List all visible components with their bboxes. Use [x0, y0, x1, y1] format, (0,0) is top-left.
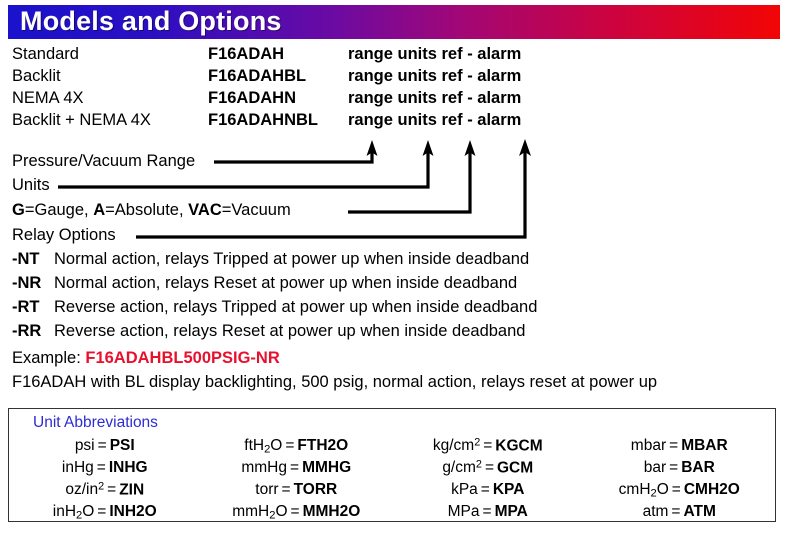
- unit-code: KPA: [493, 481, 525, 498]
- unit-name: atm: [643, 503, 669, 520]
- unit-code: PSI: [110, 437, 135, 454]
- unit-name: inH2O: [53, 503, 95, 520]
- unit-equals: =: [282, 437, 297, 454]
- unit-equals: =: [480, 437, 495, 454]
- unit-name: torr: [255, 481, 278, 498]
- model-code: F16ADAHNBL: [208, 111, 318, 130]
- model-code: F16ADAHN: [208, 89, 296, 108]
- unit-equals: =: [104, 481, 119, 498]
- unit-abbreviation-item: MPa=MPA: [392, 501, 584, 523]
- unit-abbreviation-item: bar=BAR: [584, 457, 776, 479]
- example-part-number: F16ADAHBL500PSIG-NR: [85, 349, 279, 367]
- unit-code: ATM: [683, 503, 715, 520]
- unit-equals: =: [95, 437, 110, 454]
- leader-line-range: [214, 147, 372, 162]
- unit-abbreviation-item: cmH2O=CMH2O: [584, 479, 776, 501]
- unit-name: psi: [75, 437, 95, 454]
- header-banner: Models and Options: [8, 5, 780, 39]
- unit-equals: =: [94, 503, 109, 520]
- unit-equals: =: [668, 503, 683, 520]
- unit-name: MPa: [448, 503, 480, 520]
- unit-abbreviation-item: atm=ATM: [584, 501, 776, 523]
- unit-code: FTH2O: [297, 437, 348, 454]
- models-table: StandardF16ADAHrange units ref - alarmBa…: [12, 45, 612, 133]
- model-suffix: range units ref - alarm: [348, 45, 521, 64]
- unit-code: ZIN: [119, 481, 144, 498]
- unit-abbreviation-item: mbar=MBAR: [584, 435, 776, 457]
- unit-code: GCM: [497, 459, 533, 476]
- relay-option-text: Normal action, relays Tripped at power u…: [54, 250, 529, 269]
- model-row: StandardF16ADAHrange units ref - alarm: [12, 45, 612, 67]
- model-row: BacklitF16ADAHBLrange units ref - alarm: [12, 67, 612, 89]
- unit-code: TORR: [294, 481, 338, 498]
- unit-abbreviation-item: kg/cm2=KGCM: [392, 435, 584, 457]
- unit-name: mmH2O: [232, 503, 287, 520]
- model-suffix: range units ref - alarm: [348, 111, 521, 130]
- unit-abbreviation-item: g/cm2=GCM: [392, 457, 584, 479]
- callout-label-pressure-vacuum-range: Pressure/Vacuum Range: [12, 152, 200, 171]
- unit-code: INH2O: [109, 503, 156, 520]
- model-code: F16ADAH: [208, 45, 284, 64]
- example-line: Example: F16ADAHBL500PSIG-NR: [12, 349, 280, 368]
- unit-name: oz/in2: [65, 481, 104, 498]
- unit-equals: =: [666, 459, 681, 476]
- unit-code: MMHG: [302, 459, 351, 476]
- relay-option-text: Reverse action, relays Tripped at power …: [54, 298, 537, 317]
- unit-name: bar: [644, 459, 666, 476]
- unit-abbreviation-item: oz/in2=ZIN: [9, 479, 201, 501]
- unit-name: g/cm2: [442, 459, 482, 476]
- unit-code: MPA: [495, 503, 528, 520]
- unit-name: mbar: [631, 437, 666, 454]
- relay-option-row: -RTReverse action, relays Tripped at pow…: [12, 298, 732, 322]
- model-description: NEMA 4X: [12, 89, 84, 108]
- model-description: Backlit: [12, 67, 61, 86]
- relay-option-row: -RRReverse action, relays Reset at power…: [12, 322, 732, 346]
- unit-equals: =: [669, 481, 684, 498]
- model-row: NEMA 4XF16ADAHNrange units ref - alarm: [12, 89, 612, 111]
- unit-equals: =: [94, 459, 109, 476]
- model-suffix: range units ref - alarm: [348, 89, 521, 108]
- unit-equals: =: [288, 503, 303, 520]
- unit-abbreviations-grid: psi=PSIftH2O=FTH2Okg/cm2=KGCMmbar=MBARin…: [9, 435, 775, 523]
- unit-abbreviation-item: inH2O=INH2O: [9, 501, 201, 523]
- unit-equals: =: [279, 481, 294, 498]
- unit-name: kg/cm2: [433, 437, 480, 454]
- unit-code: MBAR: [681, 437, 728, 454]
- relay-option-row: -NRNormal action, relays Reset at power …: [12, 274, 732, 298]
- model-suffix: range units ref - alarm: [348, 67, 521, 86]
- unit-equals: =: [478, 481, 493, 498]
- relay-option-code: -NT: [12, 250, 40, 269]
- unit-equals: =: [482, 459, 497, 476]
- relay-option-code: -NR: [12, 274, 41, 293]
- model-description: Backlit + NEMA 4X: [12, 111, 151, 130]
- unit-abbreviation-item: psi=PSI: [9, 435, 201, 457]
- relay-option-code: -RR: [12, 322, 41, 341]
- unit-name: mmHg: [241, 459, 287, 476]
- unit-code: INHG: [109, 459, 148, 476]
- unit-name: inHg: [62, 459, 94, 476]
- relay-options-list: -NTNormal action, relays Tripped at powe…: [12, 250, 732, 346]
- callout-label-gauge-absolute-vacuum: G=Gauge, A=Absolute, VAC=Vacuum: [12, 201, 296, 220]
- unit-code: BAR: [681, 459, 715, 476]
- unit-equals: =: [480, 503, 495, 520]
- unit-code: KGCM: [495, 437, 542, 454]
- unit-code: MMH2O: [303, 503, 361, 520]
- model-description: Standard: [12, 45, 79, 64]
- unit-abbreviation-item: mmH2O=MMH2O: [201, 501, 393, 523]
- unit-name: ftH2O: [244, 437, 282, 454]
- relay-option-text: Reverse action, relays Reset at power up…: [54, 322, 525, 341]
- relay-option-row: -NTNormal action, relays Tripped at powe…: [12, 250, 732, 274]
- callout-label-units: Units: [12, 176, 55, 195]
- unit-abbreviations-title: Unit Abbreviations: [33, 414, 158, 432]
- model-code: F16ADAHBL: [208, 67, 306, 86]
- unit-equals: =: [287, 459, 302, 476]
- relay-option-text: Normal action, relays Reset at power up …: [54, 274, 517, 293]
- leader-line-ref: [348, 147, 470, 212]
- unit-abbreviation-item: mmHg=MMHG: [201, 457, 393, 479]
- unit-name: cmH2O: [619, 481, 669, 498]
- unit-abbreviations-box: Unit Abbreviations psi=PSIftH2O=FTH2Okg/…: [8, 408, 776, 522]
- unit-name: kPa: [451, 481, 478, 498]
- unit-code: CMH2O: [684, 481, 740, 498]
- relay-option-code: -RT: [12, 298, 40, 317]
- page-title: Models and Options: [20, 6, 282, 37]
- example-label: Example:: [12, 349, 85, 367]
- callout-label-relay-options: Relay Options: [12, 226, 121, 245]
- unit-abbreviation-item: ftH2O=FTH2O: [201, 435, 393, 457]
- unit-abbreviation-item: torr=TORR: [201, 479, 393, 501]
- example-description: F16ADAH with BL display backlighting, 50…: [12, 373, 657, 392]
- unit-equals: =: [666, 437, 681, 454]
- unit-abbreviation-item: kPa=KPA: [392, 479, 584, 501]
- unit-abbreviation-item: inHg=INHG: [9, 457, 201, 479]
